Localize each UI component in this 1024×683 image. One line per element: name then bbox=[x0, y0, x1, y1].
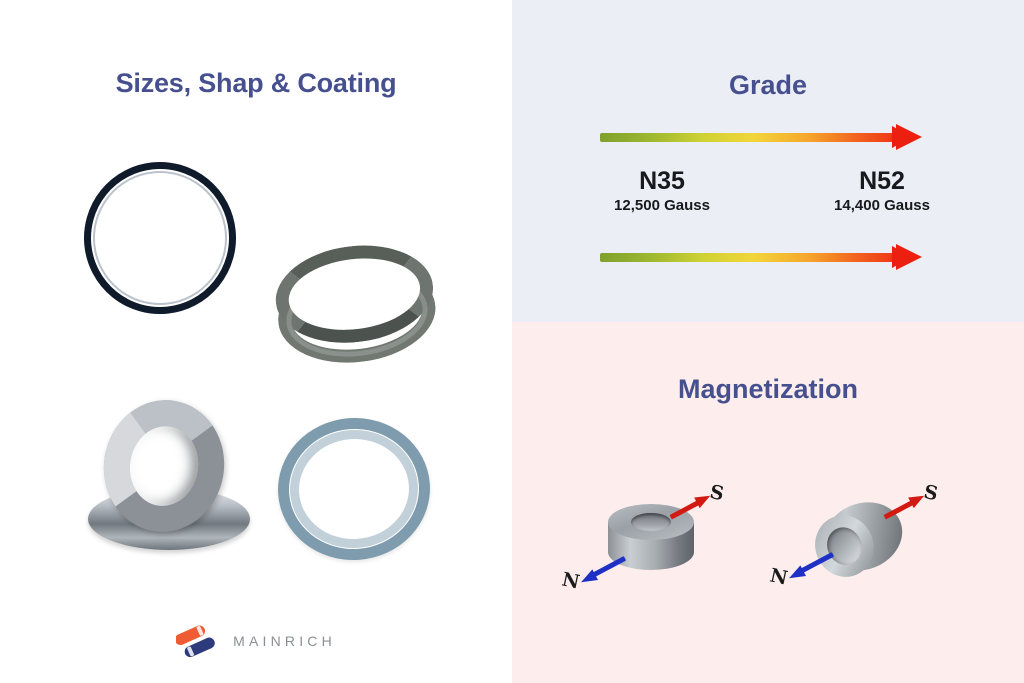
product-nickel-plated-ring-magnets bbox=[80, 400, 258, 560]
grade-name-n52: N52 bbox=[792, 168, 972, 194]
brand-wordmark: MAINRICH bbox=[233, 633, 336, 649]
black-ring-icon bbox=[76, 154, 243, 321]
grade-item-n52: N52 14,400 Gauss bbox=[792, 168, 972, 214]
magnetization-figures: S N S bbox=[512, 462, 1024, 642]
grade-item-n35: N35 12,500 Gauss bbox=[572, 168, 752, 214]
figure-diametric-magnetized-ring: S N bbox=[770, 462, 960, 612]
grade-gradient-bar bbox=[600, 133, 906, 142]
page-title-sizes-shape-coating: Sizes, Shap & Coating bbox=[0, 68, 512, 99]
section-title-magnetization: Magnetization bbox=[512, 374, 1024, 405]
grade-arrowhead-icon bbox=[896, 124, 922, 150]
grade-gradient-bar-2 bbox=[600, 253, 906, 262]
south-pole-label: S bbox=[708, 481, 726, 505]
grade-section: Grade N35 12,500 Gauss N52 14,400 Gauss bbox=[512, 0, 1024, 322]
grade-name-n35: N35 bbox=[572, 168, 752, 194]
grade-label-row: N35 12,500 Gauss N52 14,400 Gauss bbox=[572, 168, 972, 214]
logo-shapes-icon bbox=[176, 621, 220, 661]
figure-axial-magnetized-ring: S N bbox=[560, 462, 750, 612]
sizes-shape-coating-panel: Sizes, Shap & Coating bbox=[0, 0, 512, 683]
product-gunmetal-tall-ring-magnet bbox=[270, 240, 442, 358]
grade-arrowhead-icon-2 bbox=[896, 244, 922, 270]
right-panel: Grade N35 12,500 Gauss N52 14,400 Gauss bbox=[512, 0, 1024, 683]
diametric-ring-icon bbox=[802, 483, 922, 595]
gunmetal-ring-icon bbox=[263, 230, 448, 368]
axial-ring-bore bbox=[631, 513, 671, 531]
south-pole-label-2: S bbox=[922, 481, 940, 505]
infographic-root: Sizes, Shap & Coating bbox=[0, 0, 1024, 683]
north-pole-label-2: N bbox=[768, 564, 790, 589]
grade-gradient-arrow-bottom bbox=[600, 244, 940, 270]
section-title-grade: Grade bbox=[512, 70, 1024, 101]
product-black-epoxy-ring-magnet bbox=[84, 162, 236, 314]
grade-gauss-n52: 14,400 Gauss bbox=[792, 197, 972, 214]
blue-ring-icon bbox=[273, 413, 435, 565]
grade-gauss-n35: 12,500 Gauss bbox=[572, 197, 752, 214]
mainrich-mark-icon bbox=[176, 621, 220, 661]
north-pole-label: N bbox=[560, 568, 582, 593]
product-zinc-blue-ring-magnet bbox=[278, 418, 430, 560]
brand-logo: MAINRICH bbox=[0, 621, 512, 661]
grade-gradient-arrow-top bbox=[600, 124, 940, 150]
magnetization-section: Magnetization S N bbox=[512, 322, 1024, 683]
product-photo-grid bbox=[0, 140, 512, 590]
